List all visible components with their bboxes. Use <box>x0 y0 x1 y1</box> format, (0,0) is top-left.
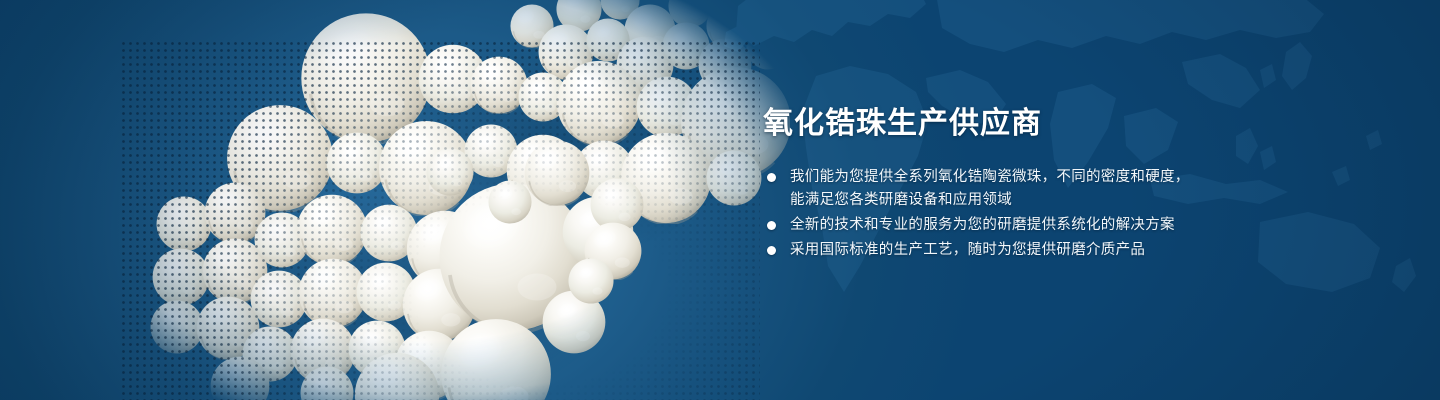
bullet-text-line-1: 采用国际标准的生产工艺，随时为您提供研磨介质产品 <box>790 242 1145 258</box>
bullet-text-line-1: 全新的技术和专业的服务为您的研磨提供系统化的解决方案 <box>790 217 1175 233</box>
banner-feature-list: 我们能为您提供全系列氧化锆陶瓷微珠，不同的密度和硬度， 能满足您各类研磨设备和应… <box>763 166 1233 262</box>
bullet-dot-icon <box>767 221 776 230</box>
bullet-dot-icon <box>767 173 776 182</box>
banner-headline: 氧化锆珠生产供应商 <box>763 104 1233 144</box>
bullet-text-line-2: 能满足您各类研磨设备和应用领域 <box>790 189 1233 212</box>
list-item: 我们能为您提供全系列氧化锆陶瓷微珠，不同的密度和硬度， 能满足您各类研磨设备和应… <box>763 166 1233 212</box>
banner-copy: 氧化锆珠生产供应商 我们能为您提供全系列氧化锆陶瓷微珠，不同的密度和硬度， 能满… <box>763 104 1233 264</box>
bullet-dot-icon <box>767 246 776 255</box>
list-item: 全新的技术和专业的服务为您的研磨提供系统化的解决方案 <box>763 214 1233 237</box>
bullet-text-line-1: 我们能为您提供全系列氧化锆陶瓷微珠，不同的密度和硬度， <box>790 169 1190 185</box>
list-item: 采用国际标准的生产工艺，随时为您提供研磨介质产品 <box>763 239 1233 262</box>
hero-banner: 氧化锆珠生产供应商 我们能为您提供全系列氧化锆陶瓷微珠，不同的密度和硬度， 能满… <box>0 0 1440 400</box>
